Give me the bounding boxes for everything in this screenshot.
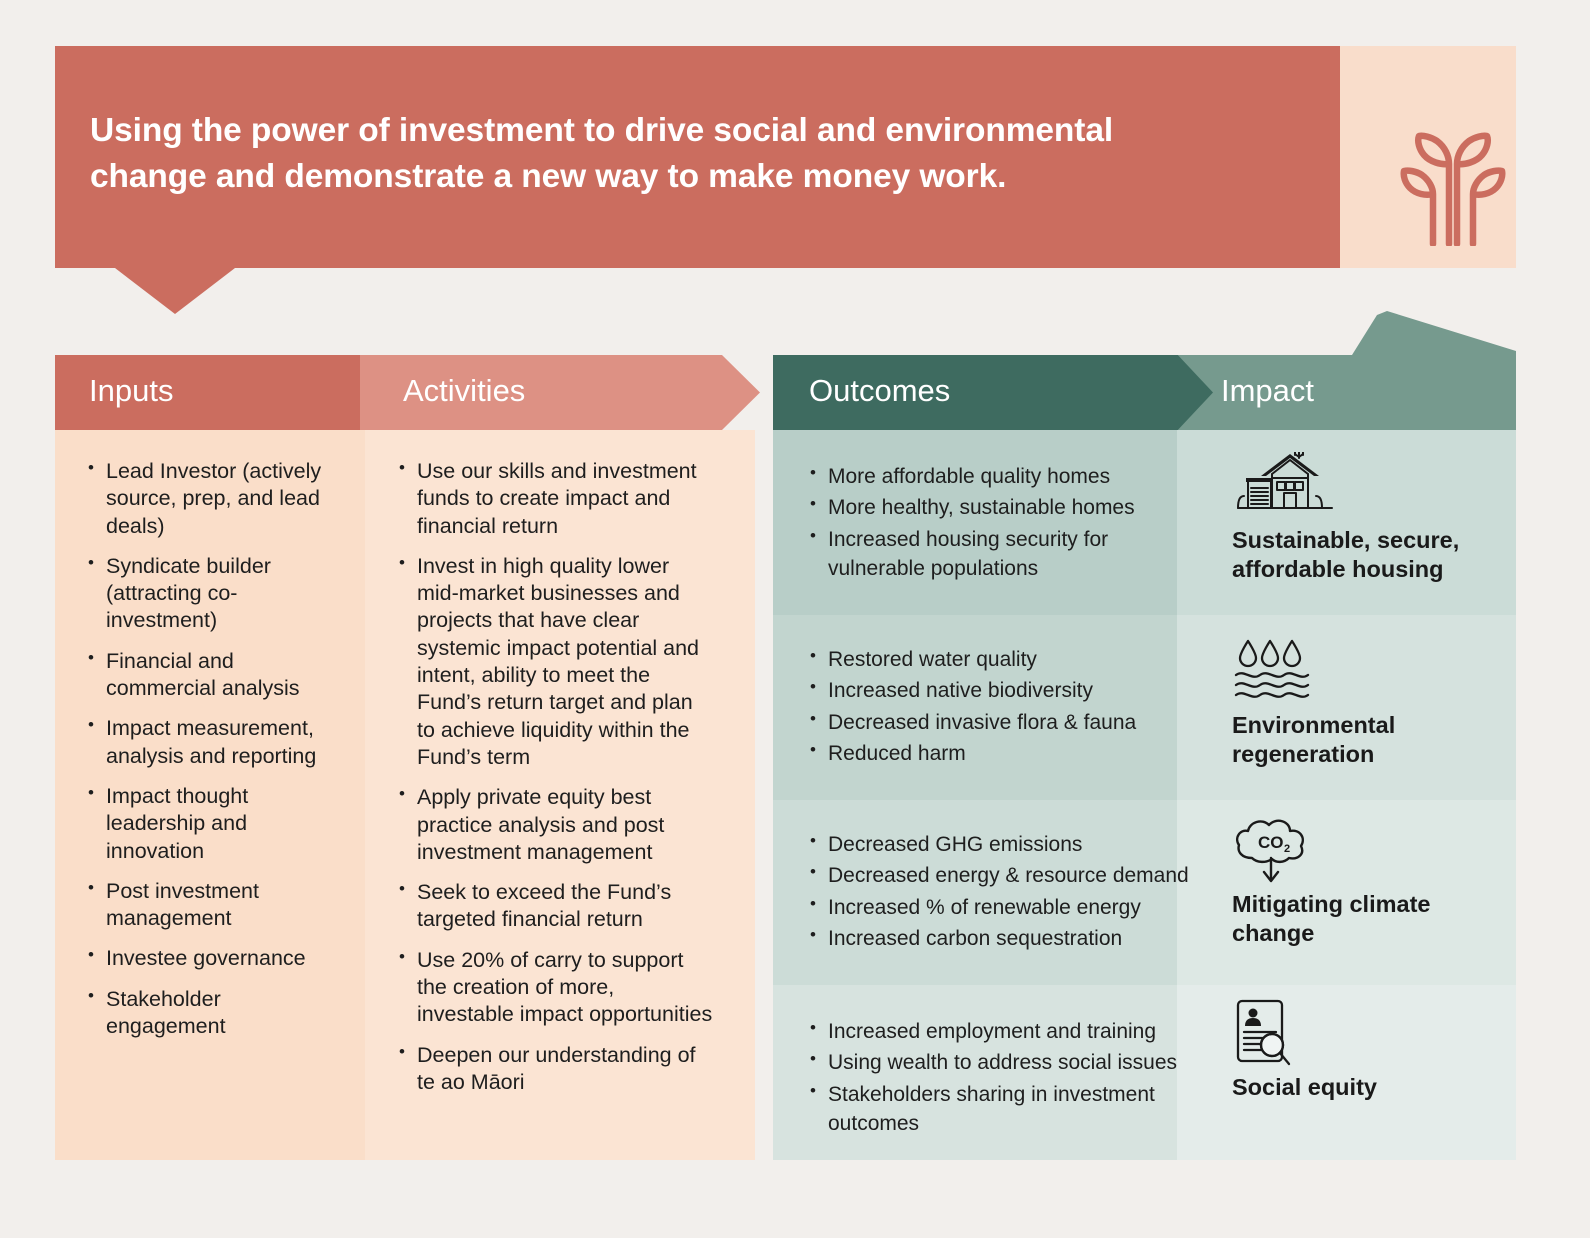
outcomes-list-item: More healthy, sustainable homes: [807, 493, 1197, 522]
activities-list: Use our skills and investment funds to c…: [395, 458, 715, 1109]
outcomes-list-item: Reduced harm: [807, 739, 1197, 768]
outcomes-list: Increased employment and trainingUsing w…: [807, 1017, 1197, 1141]
left-body: Lead Investor (actively source, prep, an…: [55, 430, 755, 1160]
page-title: Using the power of investment to drive s…: [90, 108, 1220, 199]
svg-text:2: 2: [1284, 843, 1290, 855]
impact-label: Environmental regeneration: [1232, 711, 1492, 768]
impact-label: Social equity: [1232, 1073, 1492, 1102]
outcomes-list-item: Using wealth to address social issues: [807, 1048, 1197, 1077]
activities-header-chevron: Activities: [360, 355, 760, 430]
impact-cell: Sustainable, secure, affordable housing: [1232, 452, 1492, 583]
id-document-magnifier-icon: [1232, 999, 1294, 1069]
outcomes-list-item: Decreased invasive flora & fauna: [807, 708, 1197, 737]
impact-label: Mitigating climate change: [1232, 890, 1492, 947]
inputs-list-item: Financial and commercial analysis: [84, 648, 339, 703]
activities-list-item: Invest in high quality lower mid-market …: [395, 553, 715, 771]
inputs-list-item: Lead Investor (actively source, prep, an…: [84, 458, 339, 540]
inputs-list-item: Post investment management: [84, 878, 339, 933]
outcomes-impact-group: More affordable quality homesMore health…: [773, 311, 1516, 1160]
inputs-list-item: Stakeholder engagement: [84, 986, 339, 1041]
header-speech-tail: [115, 268, 235, 314]
inputs-list: Lead Investor (actively source, prep, an…: [84, 458, 339, 1053]
impact-cell: Environmental regeneration: [1232, 637, 1492, 768]
outcomes-list-item: Decreased GHG emissions: [807, 830, 1197, 859]
water-droplets-waves-icon: [1232, 637, 1332, 699]
svg-text:CO: CO: [1258, 833, 1284, 852]
activities-list-item: Use our skills and investment funds to c…: [395, 458, 715, 540]
id-document-magnifier-icon: [1232, 999, 1332, 1061]
outcome-impact-band: Restored water qualityIncreased native b…: [773, 615, 1516, 800]
inputs-activities-group: Lead Investor (actively source, prep, an…: [55, 355, 755, 1160]
inputs-list-item: Syndicate builder (attracting co-investm…: [84, 553, 339, 635]
outcomes-list-item: Increased % of renewable energy: [807, 893, 1197, 922]
outcomes-list-item: Stakeholders sharing in investment outco…: [807, 1080, 1197, 1139]
outcome-impact-band: Decreased GHG emissionsDecreased energy …: [773, 800, 1516, 985]
sprout-plant-logo-icon: [1395, 116, 1511, 246]
outcomes-list-item: Restored water quality: [807, 645, 1197, 674]
outcomes-list: More affordable quality homesMore health…: [807, 462, 1197, 586]
inputs-heading: Inputs: [89, 373, 173, 409]
activities-list-item: Seek to exceed the Fund’s targeted finan…: [395, 879, 715, 934]
impact-cell: CO 2 Mitigating climate change: [1232, 816, 1492, 947]
outcomes-list-item: Increased carbon sequestration: [807, 924, 1197, 953]
outcomes-header-chevron: Outcomes: [773, 355, 1213, 430]
outcomes-heading: Outcomes: [809, 373, 950, 409]
outcomes-list-item: More affordable quality homes: [807, 462, 1197, 491]
outcomes-list-item: Increased employment and training: [807, 1017, 1197, 1046]
activities-list-item: Use 20% of carry to support the creation…: [395, 947, 715, 1029]
activities-list-item: Deepen our understanding of te ao Māori: [395, 1042, 715, 1097]
inputs-list-item: Impact measurement, analysis and reporti…: [84, 715, 339, 770]
water-droplets-waves-icon: [1232, 637, 1312, 701]
outcome-impact-band: Increased employment and trainingUsing w…: [773, 985, 1516, 1160]
inputs-header-chevron: Inputs: [55, 355, 400, 430]
inputs-list-item: Investee governance: [84, 945, 339, 972]
activities-heading: Activities: [403, 373, 525, 409]
outcome-impact-bands: More affordable quality homesMore health…: [773, 430, 1516, 1160]
outcomes-list-item: Increased housing security for vulnerabl…: [807, 525, 1197, 584]
co2-cloud-icon: CO 2: [1232, 816, 1332, 878]
activities-list-item: Apply private equity best practice analy…: [395, 784, 715, 866]
outcomes-list: Restored water qualityIncreased native b…: [807, 645, 1197, 771]
impact-label: Sustainable, secure, affordable housing: [1232, 526, 1492, 583]
co2-cloud-icon: CO 2: [1232, 816, 1310, 886]
house-icon: [1232, 452, 1332, 514]
inputs-list-item: Impact thought leadership and innovation: [84, 783, 339, 865]
outcomes-list-item: Increased native biodiversity: [807, 676, 1197, 705]
header-banner: Using the power of investment to drive s…: [55, 46, 1516, 268]
impact-header-arrow: Impact: [1177, 311, 1516, 430]
outcome-impact-band: More affordable quality homesMore health…: [773, 430, 1516, 615]
impact-cell: Social equity: [1232, 999, 1492, 1102]
house-icon: [1232, 452, 1336, 516]
outcomes-list: Decreased GHG emissionsDecreased energy …: [807, 830, 1197, 956]
impact-heading: Impact: [1221, 373, 1314, 409]
outcomes-list-item: Decreased energy & resource demand: [807, 861, 1197, 890]
